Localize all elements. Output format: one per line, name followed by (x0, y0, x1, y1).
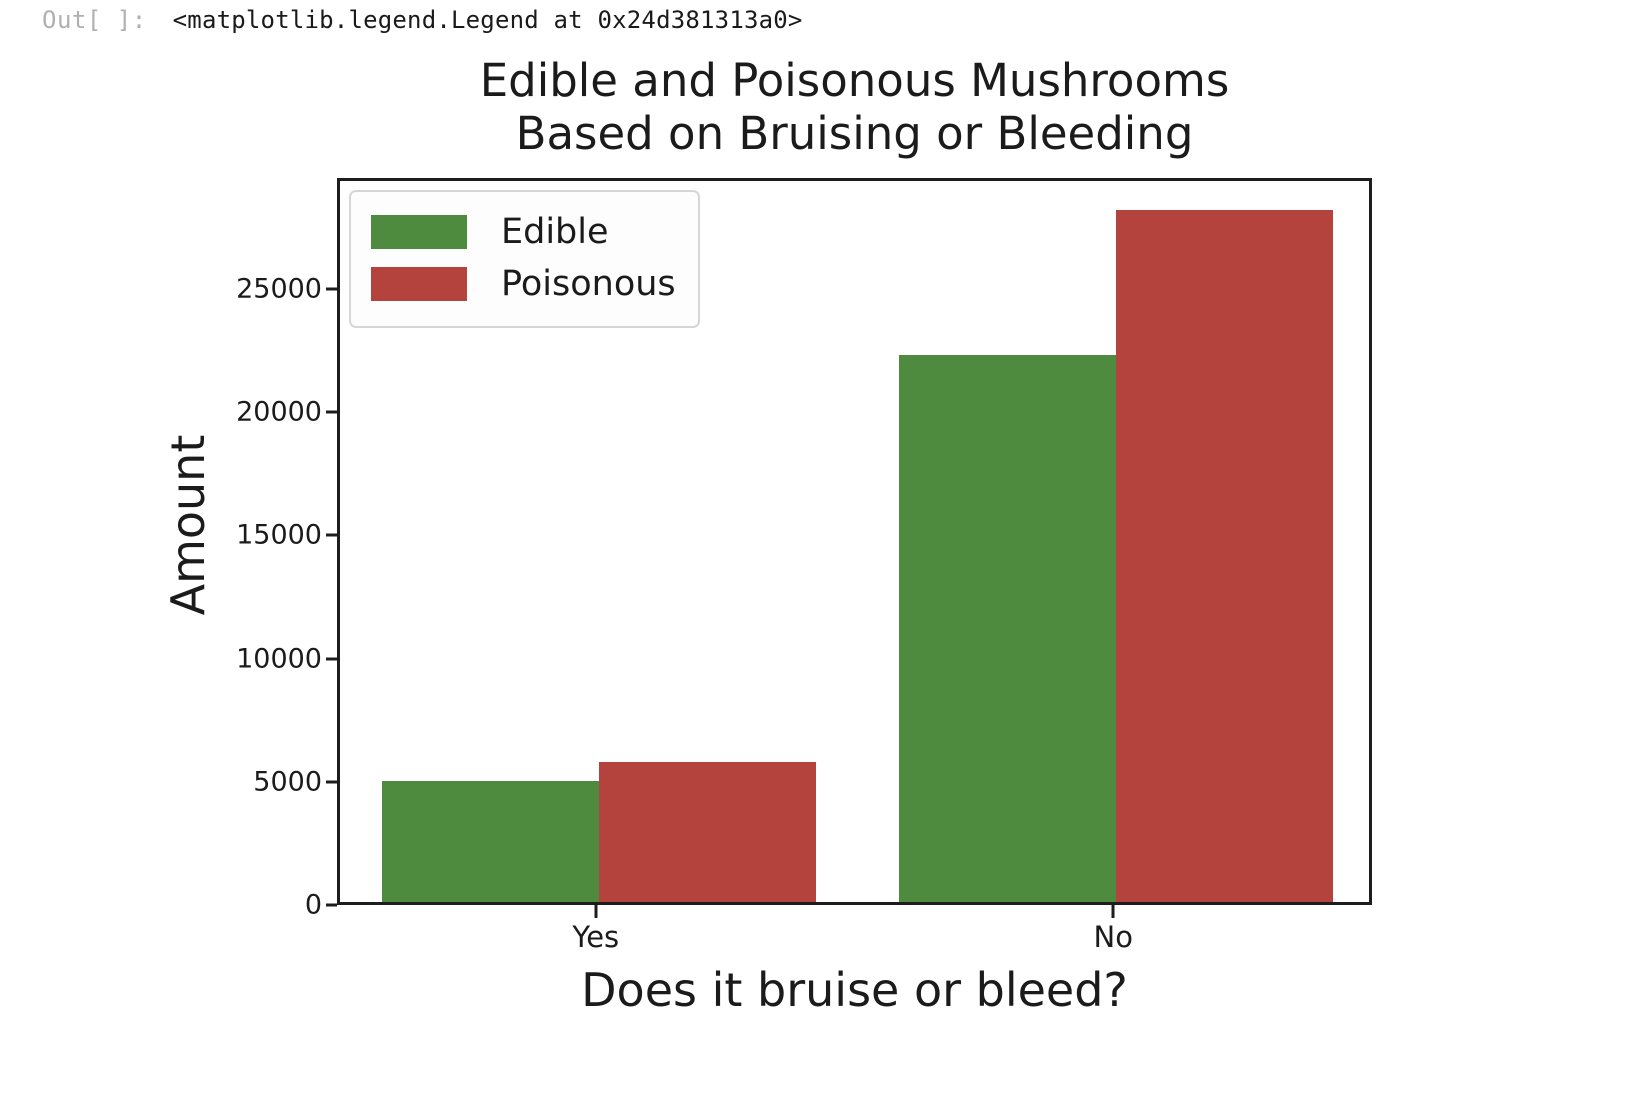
legend-label-poisonous: Poisonous (501, 264, 676, 304)
bar-edible-no (899, 355, 1116, 902)
y-tick-label: 15000 (236, 520, 322, 551)
x-axis-tick-labels: YesNo (337, 920, 1372, 964)
legend-swatch-poisonous (371, 267, 467, 301)
x-tick-mark (594, 905, 597, 918)
y-tick-mark (326, 411, 337, 414)
legend-swatch-edible (371, 215, 467, 249)
x-axis-tick-marks (337, 905, 1372, 918)
y-tick-mark (326, 657, 337, 660)
y-tick-mark (326, 534, 337, 537)
x-tick-label-yes: Yes (572, 920, 619, 954)
bar-poisonous-no (1116, 210, 1333, 902)
x-tick-label-no: No (1094, 920, 1133, 954)
y-tick-label: 10000 (236, 643, 322, 674)
output-prompt-label: Out[ ]: (0, 6, 147, 34)
y-tick-label: 20000 (236, 397, 322, 428)
y-tick-label: 25000 (236, 273, 322, 304)
bar-poisonous-yes (599, 762, 816, 902)
legend-entry: Edible (371, 206, 676, 258)
y-tick-label: 0 (305, 890, 322, 921)
y-axis-tick-marks (326, 178, 337, 905)
plot-area: Edible Poisonous (337, 178, 1372, 905)
legend-entry: Poisonous (371, 258, 676, 310)
x-axis-label: Does it bruise or bleed? (337, 963, 1372, 1017)
legend-label-edible: Edible (501, 212, 609, 252)
bar-edible-yes (382, 781, 599, 902)
x-tick-mark (1112, 905, 1115, 918)
output-repr-text: <matplotlib.legend.Legend at 0x24d381313… (147, 6, 803, 34)
y-tick-mark (326, 287, 337, 290)
y-tick-mark (326, 780, 337, 783)
chart-legend: Edible Poisonous (349, 190, 700, 328)
chart-title: Edible and Poisonous Mushrooms Based on … (337, 54, 1372, 160)
y-axis-tick-labels: 0500010000150002000025000 (190, 178, 322, 905)
y-tick-label: 5000 (253, 766, 322, 797)
matplotlib-figure: Edible and Poisonous Mushrooms Based on … (0, 38, 1648, 1110)
y-tick-mark (326, 904, 337, 907)
notebook-output-line: Out[ ]: <matplotlib.legend.Legend at 0x2… (0, 0, 803, 40)
